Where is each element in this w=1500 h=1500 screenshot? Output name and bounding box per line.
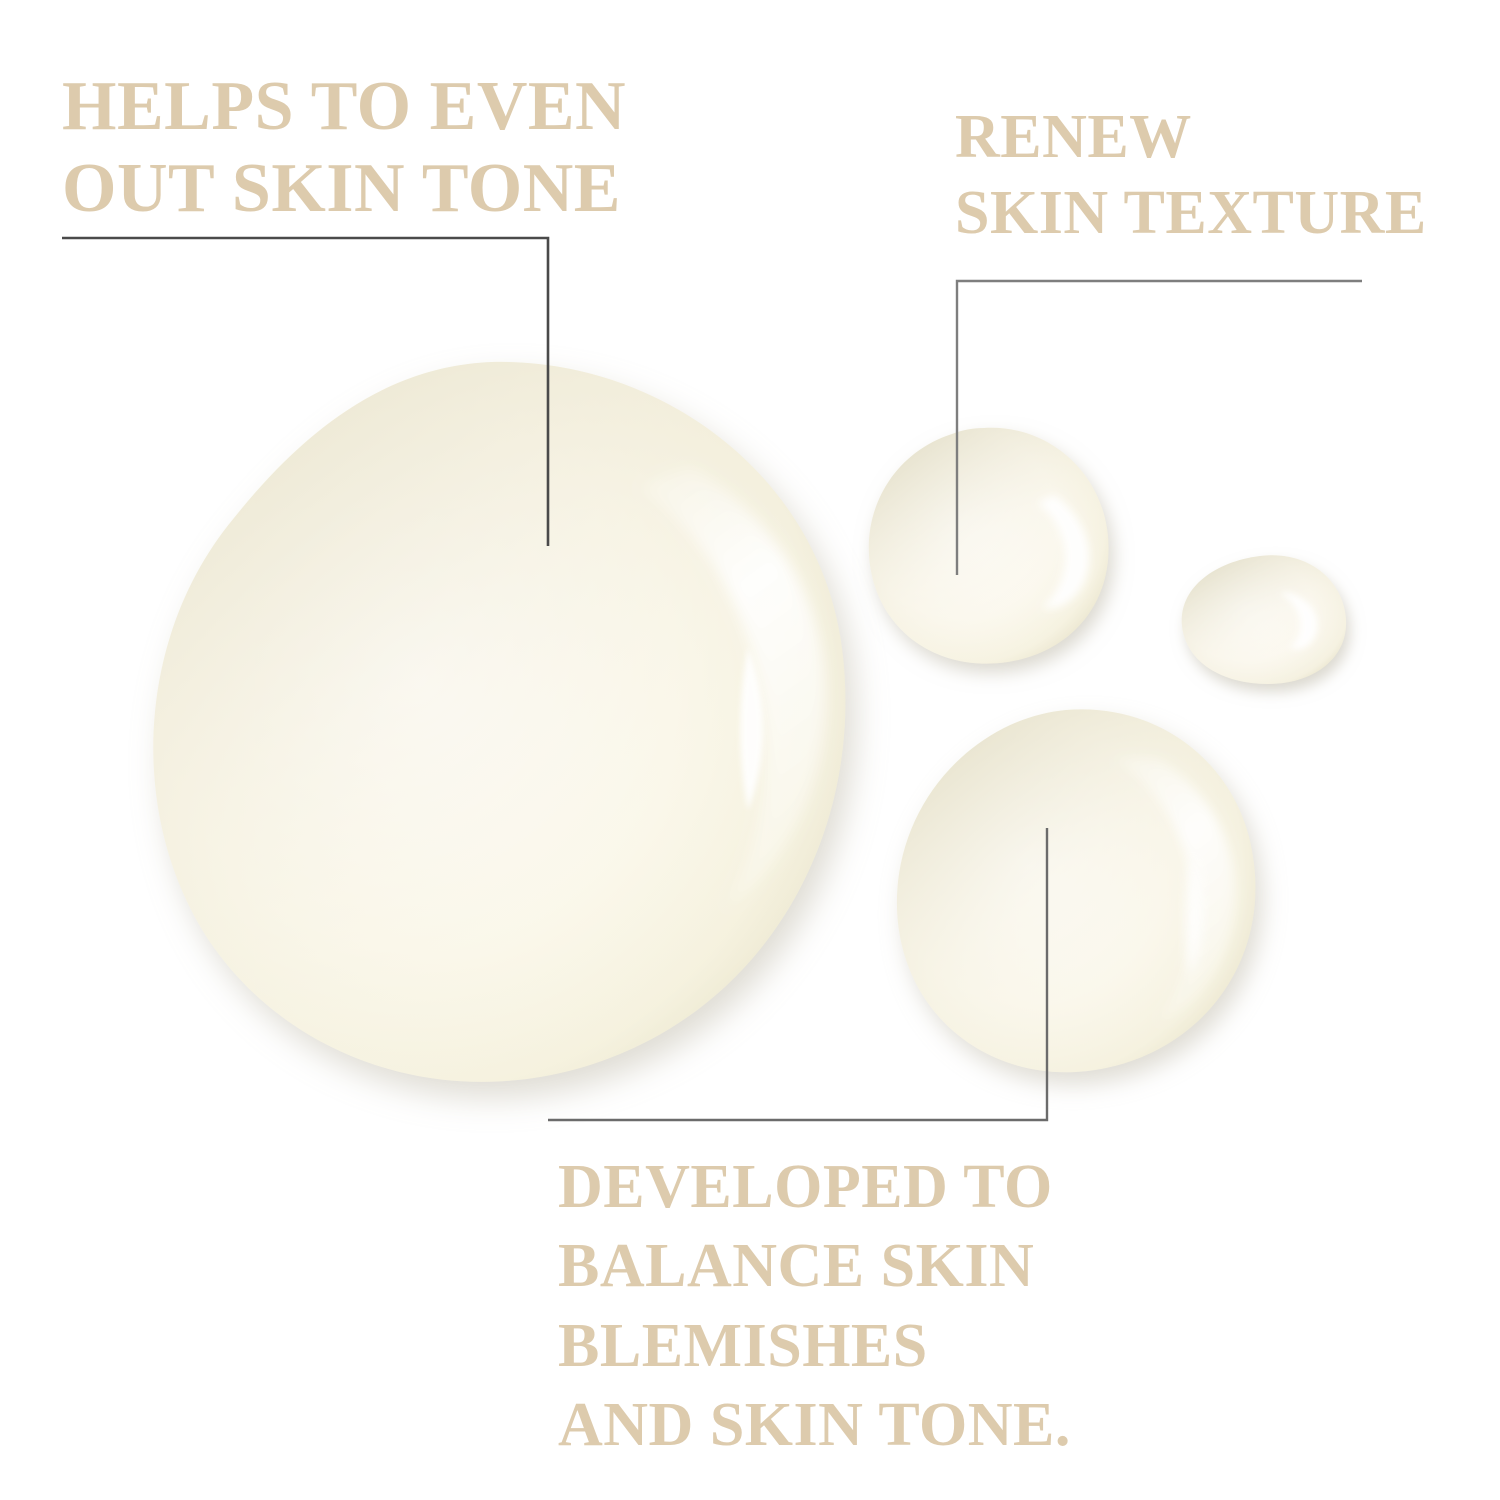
callout-renew-skin-texture: RENEW SKIN TEXTURE: [955, 100, 1427, 251]
callout-helps-to-even-out-skin-tone: HELPS TO EVEN OUT SKIN TONE: [62, 66, 626, 230]
droplet-large-left: [120, 348, 880, 1108]
droplet-large-bottom-right: [880, 698, 1280, 1098]
droplet-small-right: [1168, 546, 1363, 711]
product-benefits-infographic: HELPS TO EVEN OUT SKIN TONE RENEW SKIN T…: [0, 0, 1500, 1500]
droplet-medium-top-right: [856, 420, 1126, 700]
callout-developed-to-balance-skin-blemishes-and-skin-tone: DEVELOPED TO BALANCE SKIN BLEMISHES AND …: [558, 1148, 1071, 1465]
